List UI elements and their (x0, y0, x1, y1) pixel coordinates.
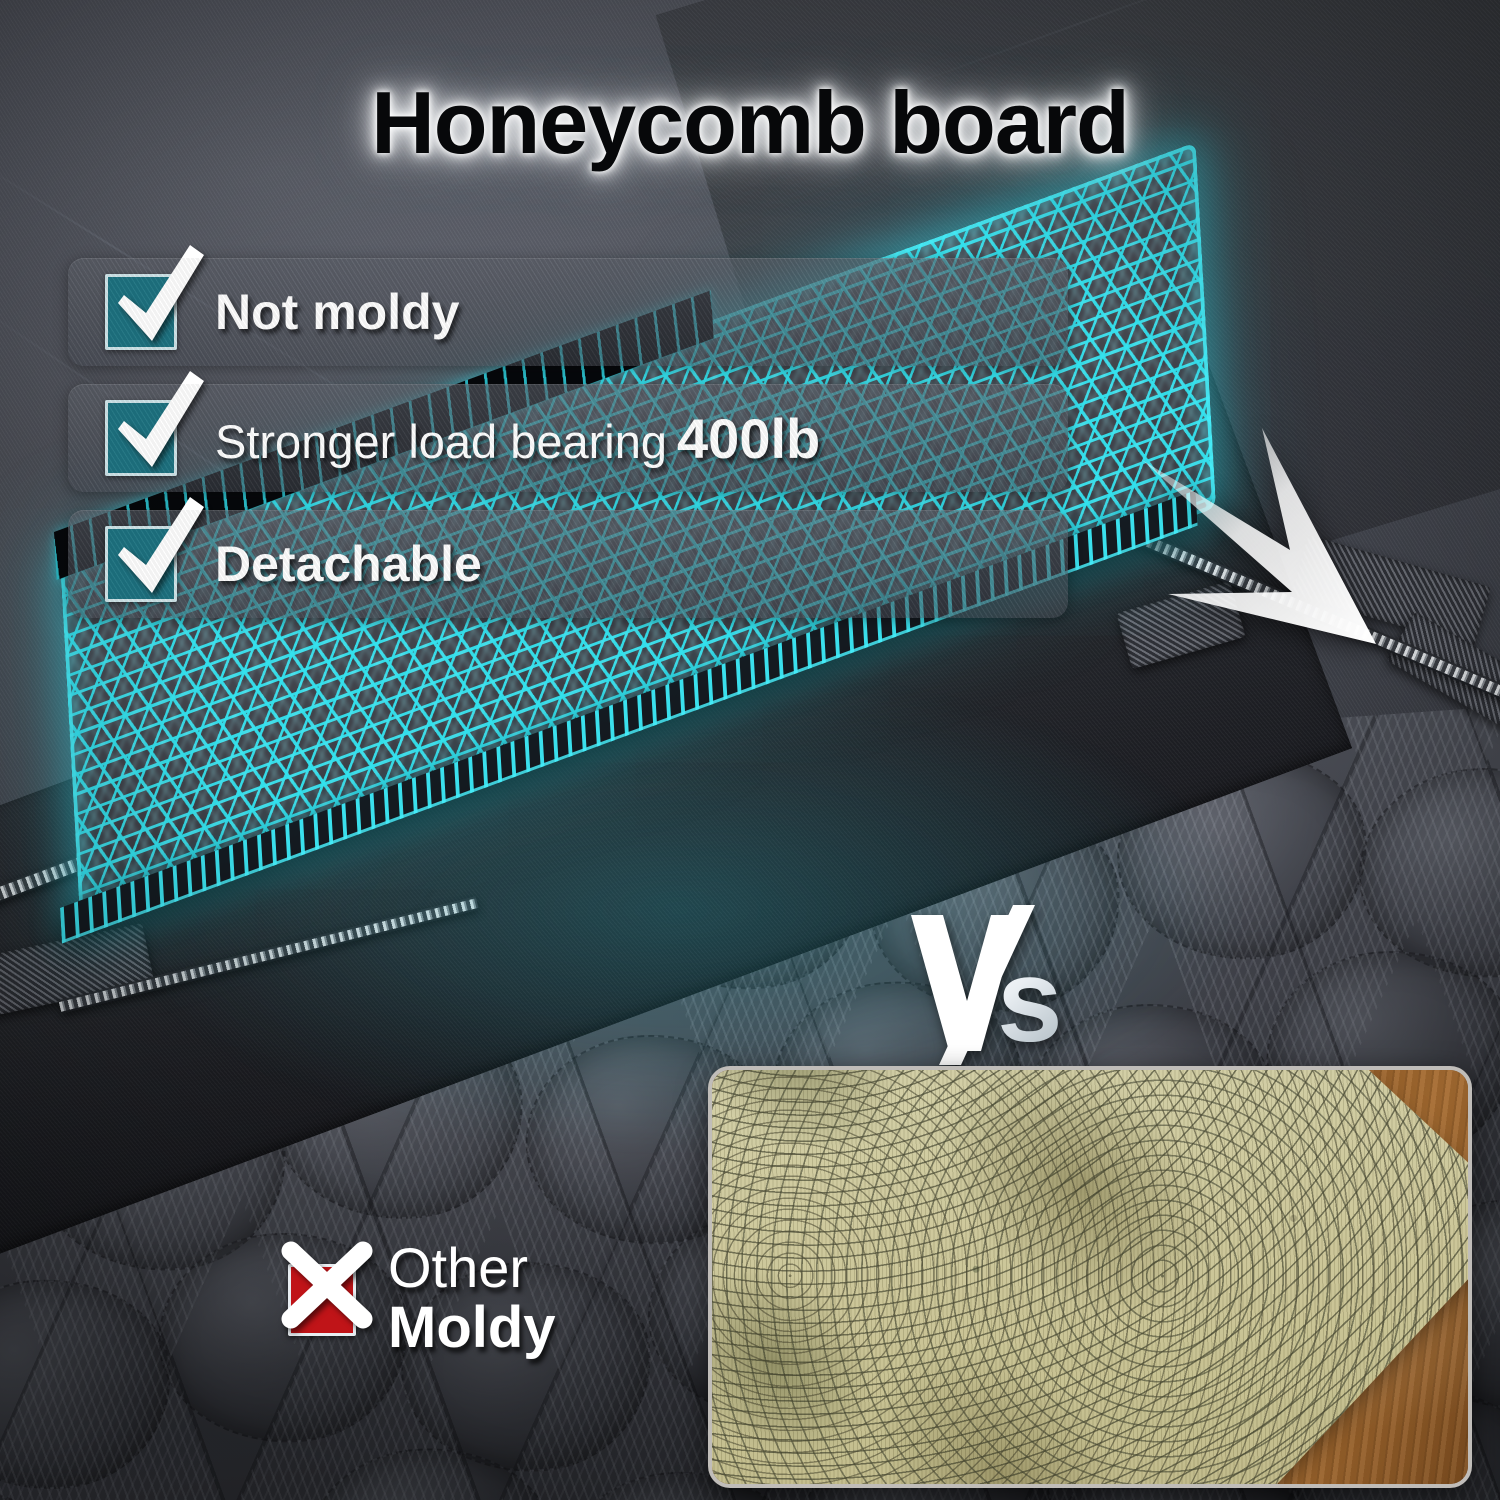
vs-badge: s (905, 905, 1075, 1065)
feature-label-wrapper: Stronger load bearing400lb (215, 406, 820, 471)
feature-label: Not moldy (215, 283, 459, 341)
moldy-pad-photo (708, 1066, 1472, 1488)
x-icon (288, 1264, 356, 1336)
negative-line-1: Other (388, 1238, 556, 1297)
checkmark-glyph (104, 493, 208, 605)
check-icon (105, 274, 177, 350)
negative-comparison-label: Other Moldy (288, 1238, 708, 1359)
feature-row-detachable: Detachable (68, 510, 1068, 618)
arrow-down-right-icon (1140, 398, 1440, 688)
feature-emphasis: 400lb (677, 407, 820, 470)
feature-label: Detachable (215, 535, 482, 593)
page-title: Honeycomb board (0, 72, 1500, 174)
negative-line-2: Moldy (388, 1297, 556, 1358)
checkmark-glyph (104, 367, 208, 479)
product-infographic: Honeycomb board Not moldy Stronger load … (0, 0, 1500, 1500)
checkmark-glyph (104, 241, 208, 353)
feature-row-not-moldy: Not moldy (68, 258, 1068, 366)
check-icon (105, 526, 177, 602)
feature-list: Not moldy Stronger load bearing400lb Det… (68, 258, 1068, 636)
x-glyph (269, 1227, 385, 1343)
check-icon (105, 400, 177, 476)
feature-row-load-bearing: Stronger load bearing400lb (68, 384, 1068, 492)
feature-label: Stronger load bearing (215, 415, 667, 468)
negative-text-block: Other Moldy (388, 1238, 556, 1359)
